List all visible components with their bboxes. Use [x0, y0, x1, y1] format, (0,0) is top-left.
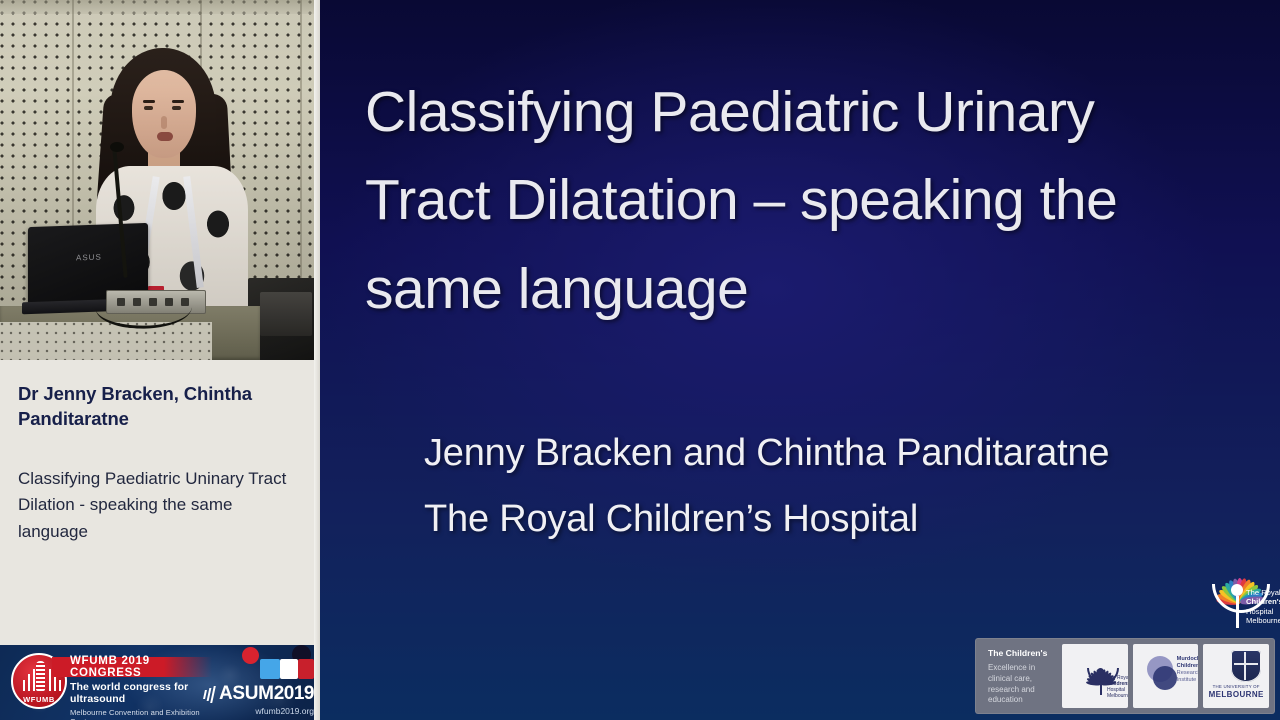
- asum-year: 2019: [274, 683, 314, 705]
- asum-wave-icon: [202, 686, 220, 703]
- slide-presenters: Jenny Bracken and Chintha Panditaratne: [424, 428, 1214, 480]
- mcri-circle-dark-icon: [1153, 666, 1177, 690]
- slide-area: Classifying Paediatric Urinary Tract Dil…: [320, 0, 1280, 720]
- rch-figure-body-icon: [1236, 596, 1239, 628]
- mouth: [157, 132, 173, 141]
- wfumb-title-bar: WFUMB 2019 CONGRESS: [52, 657, 212, 677]
- presentation-video-frame: ASUS Dr Jenny Bracken, Chintha Panditara…: [0, 0, 1280, 720]
- wfumb-congress-banner: WFUMB WFUMB 2019 CONGRESS The world cong…: [0, 645, 320, 720]
- slide-title: Classifying Paediatric Urinary Tract Dil…: [365, 68, 1205, 333]
- unimelb-line1: THE UNIVERSITY OF: [1203, 684, 1269, 689]
- eye-left: [144, 106, 153, 110]
- slide-institution: The Royal Children’s Hospital: [424, 494, 1214, 546]
- mcri-line3: Research: [1177, 670, 1199, 677]
- logo-card-rch: The Royal Childrens Hospital Melbourne: [1062, 644, 1128, 708]
- lectern-front-panel: [0, 322, 212, 360]
- mcri-line4: Institute: [1177, 677, 1199, 684]
- congress-website: wfumb2019.org: [204, 706, 314, 716]
- rch-small-wordmark: The Royal Childrens Hospital Melbourne: [1107, 675, 1128, 699]
- wfumb-tagline: The world congress for ultrasound: [70, 681, 220, 705]
- sidebar-panel: ASUS Dr Jenny Bracken, Chintha Panditara…: [0, 0, 320, 720]
- rch-logo-line1: The Royal: [1246, 588, 1280, 597]
- flag-graphic: [234, 647, 320, 679]
- nose: [161, 116, 167, 129]
- speaker-photo: ASUS: [0, 0, 320, 360]
- partner-logo-bar: The Children's Excellence in clinical ca…: [975, 638, 1275, 714]
- logo-card-unimelb: THE UNIVERSITY OF MELBOURNE: [1203, 644, 1269, 708]
- rch-logo-line2: Children's: [1246, 597, 1280, 606]
- slide-subtitle: Jenny Bracken and Chintha Panditaratne T…: [424, 428, 1214, 559]
- asum-name: ASUM: [219, 683, 274, 705]
- wfumb-venue: Melbourne Convention and Exhibition Cent…: [70, 708, 220, 720]
- talk-description: Classifying Paediatric Uninary Tract Dil…: [18, 466, 302, 546]
- rch-logo-wordmark: The Royal Children's Hospital Melbourne: [1246, 588, 1280, 625]
- footer-text-block: The Children's Excellence in clinical ca…: [981, 644, 1057, 708]
- unimelb-crest-icon: [1231, 650, 1261, 682]
- royal-childrens-hospital-logo: The Royal Children's Hospital Melbourne: [1188, 540, 1280, 632]
- laptop-brand-label: ASUS: [76, 252, 110, 262]
- footer-subtitle: Excellence in clinical care, research an…: [988, 663, 1051, 706]
- unimelb-line2: MELBOURNE: [1203, 690, 1269, 699]
- footer-title: The Children's: [988, 648, 1051, 658]
- sidebar-caption: Dr Jenny Bracken, Chintha Panditaratne C…: [0, 360, 320, 645]
- rch-logo-line3: Hospital: [1246, 607, 1280, 616]
- rch-figure-head-icon: [1231, 584, 1243, 596]
- wfumb-details: The world congress for ultrasound Melbou…: [70, 681, 220, 720]
- asum-logo: ASUM 2019 wfumb2019.org: [204, 683, 314, 716]
- mcri-line1: Murdoch: [1177, 656, 1199, 663]
- eyebrow-right: [172, 100, 184, 103]
- ultrasound-probe-icon: [36, 661, 45, 691]
- rch-small-line4: Melbourne: [1107, 693, 1128, 699]
- rch-small-stem-icon: [1100, 675, 1102, 695]
- mcri-wordmark: Murdoch Childrens Research Institute: [1177, 656, 1199, 684]
- wfumb-emblem-label: WFUMB: [13, 695, 65, 704]
- mcri-line2: Childrens: [1177, 663, 1199, 670]
- face: [132, 70, 196, 158]
- wall-top-strip: [0, 0, 320, 14]
- eyebrow-left: [143, 100, 155, 103]
- microphone-head: [110, 142, 124, 152]
- eye-right: [172, 106, 181, 110]
- speaker-names: Dr Jenny Bracken, Chintha Panditaratne: [18, 382, 302, 432]
- rch-small-head-icon: [1097, 668, 1104, 675]
- logo-card-mcri: Murdoch Childrens Research Institute: [1133, 644, 1199, 708]
- wfumb-congress-title: WFUMB 2019 CONGRESS: [70, 655, 212, 679]
- rch-logo-line4: Melbourne: [1246, 616, 1280, 625]
